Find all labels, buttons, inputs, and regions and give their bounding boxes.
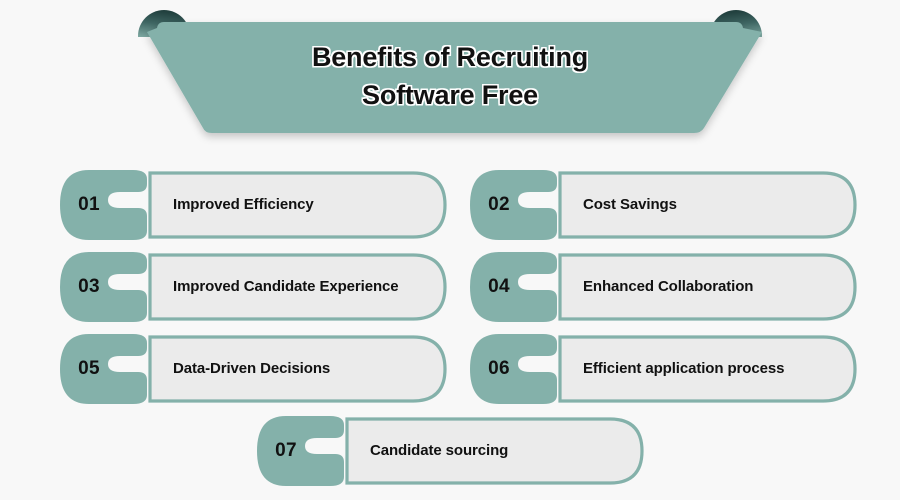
item-number: 07 [255, 416, 317, 486]
item-label: Improved Efficiency [173, 170, 431, 240]
list-item[interactable]: 05 Data-Driven Decisions [58, 334, 448, 404]
list-item[interactable]: 01 Improved Efficiency [58, 170, 448, 240]
page-title-line-2: Software Free [210, 76, 690, 114]
item-number: 04 [468, 252, 530, 322]
item-label: Improved Candidate Experience [173, 252, 431, 322]
item-label: Cost Savings [583, 170, 841, 240]
list-item[interactable]: 07 Candidate sourcing [255, 416, 645, 486]
item-number: 06 [468, 334, 530, 404]
item-label: Data-Driven Decisions [173, 334, 431, 404]
item-number: 01 [58, 170, 120, 240]
item-label: Enhanced Collaboration [583, 252, 841, 322]
page-title: Benefits of Recruiting Software Free [210, 38, 690, 115]
list-item[interactable]: 02 Cost Savings [468, 170, 858, 240]
list-item[interactable]: 03 Improved Candidate Experience [58, 252, 448, 322]
item-number: 05 [58, 334, 120, 404]
item-label: Candidate sourcing [370, 416, 628, 486]
item-label: Efficient application process [583, 334, 841, 404]
list-item[interactable]: 04 Enhanced Collaboration [468, 252, 858, 322]
item-number: 03 [58, 252, 120, 322]
item-number: 02 [468, 170, 530, 240]
header-banner: Benefits of Recruiting Software Free [0, 0, 900, 150]
list-item[interactable]: 06 Efficient application process [468, 334, 858, 404]
page-title-line-1: Benefits of Recruiting [210, 38, 690, 76]
